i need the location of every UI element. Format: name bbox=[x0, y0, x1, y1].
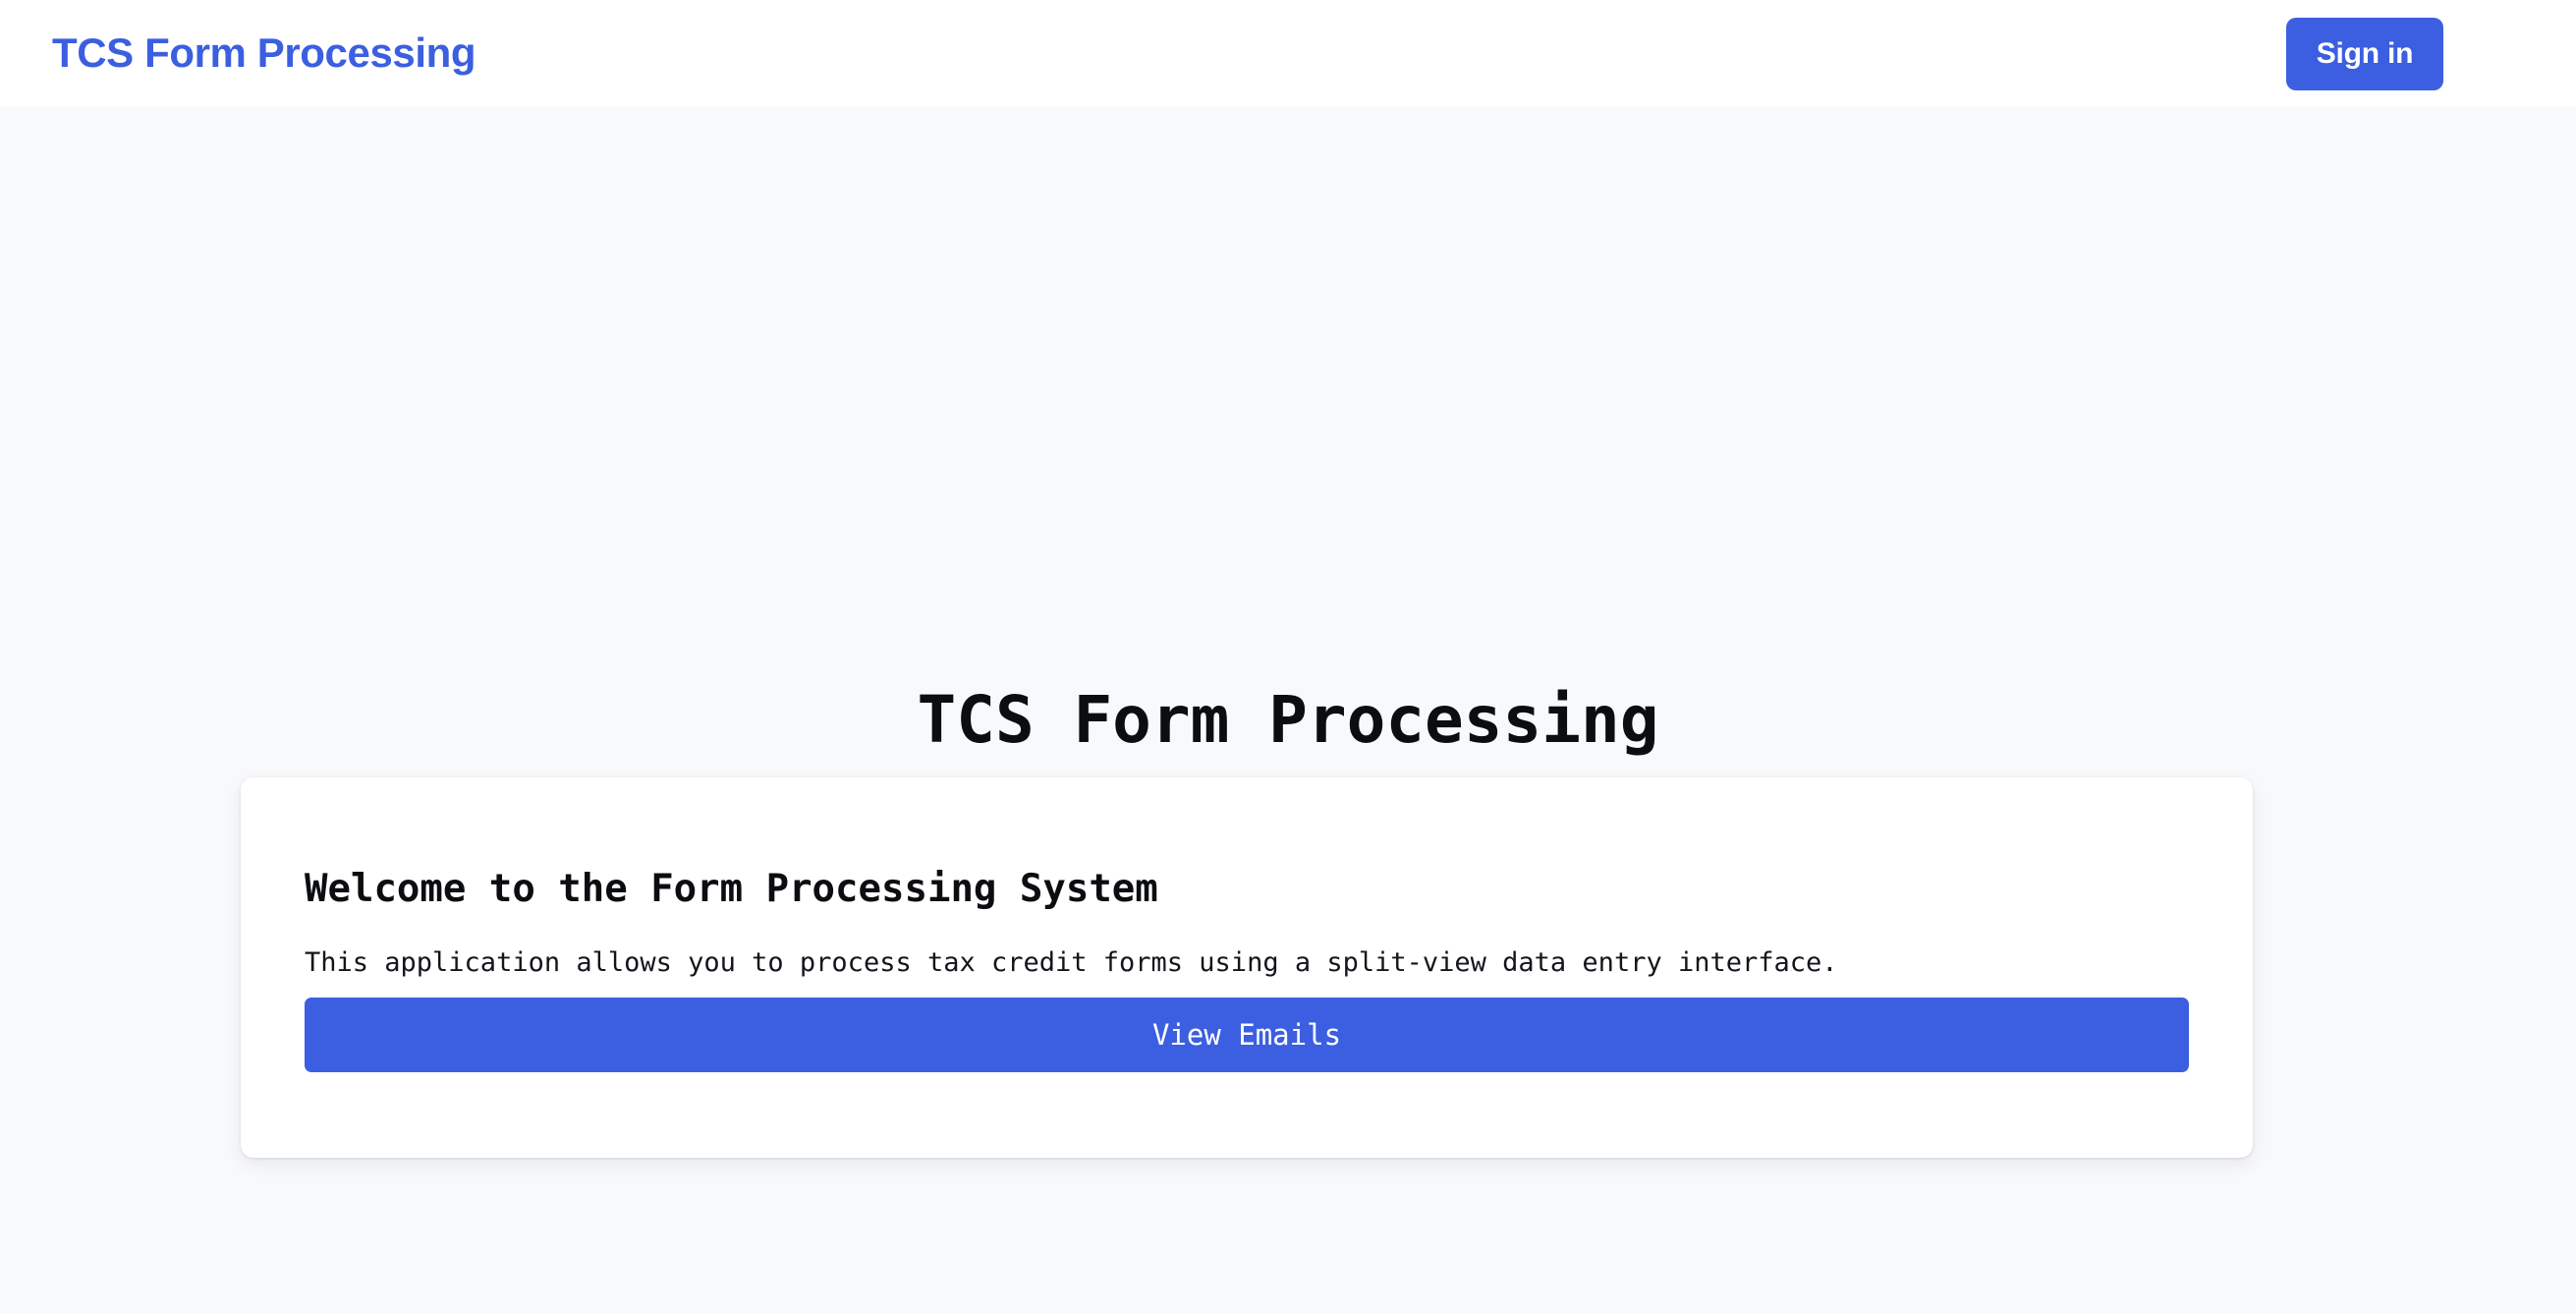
page-title: TCS Form Processing bbox=[0, 678, 2576, 763]
sign-in-button[interactable]: Sign in bbox=[2286, 18, 2443, 90]
brand-logo-text[interactable]: TCS Form Processing bbox=[52, 0, 476, 106]
main-content: TCS Form Processing Welcome to the Form … bbox=[0, 106, 2576, 1313]
card-description: This application allows you to process t… bbox=[305, 945, 1838, 981]
view-emails-button[interactable]: View Emails bbox=[305, 998, 2189, 1072]
top-navbar: TCS Form Processing Sign in bbox=[0, 0, 2576, 106]
card-heading: Welcome to the Form Processing System bbox=[305, 866, 1158, 913]
welcome-card: Welcome to the Form Processing System Th… bbox=[241, 777, 2253, 1158]
